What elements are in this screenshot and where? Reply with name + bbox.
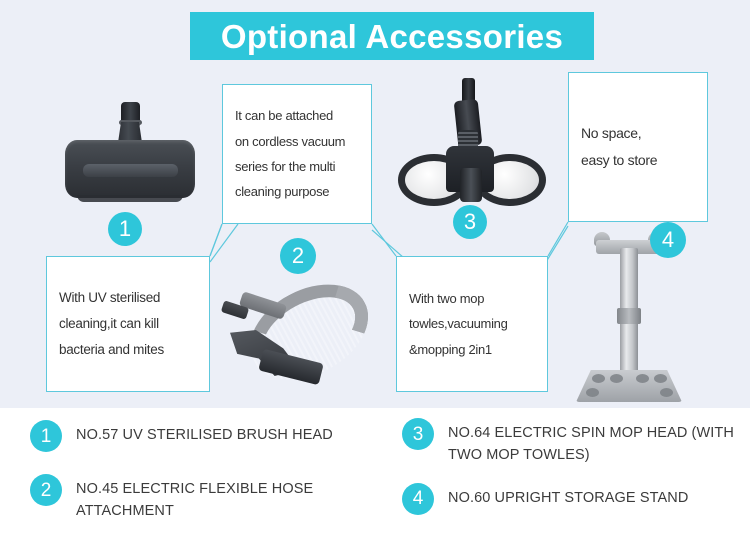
brush-base-strip xyxy=(77,195,183,202)
legend-panel: 1 NO.57 UV STERILISED BRUSH HEAD 2 NO.45… xyxy=(0,408,750,542)
mop-center-housing xyxy=(460,168,482,202)
product-image-flexible-hose xyxy=(218,282,383,388)
product-image-uv-brush-head xyxy=(55,100,205,200)
legend-item-3: 3 NO.64 ELECTRIC SPIN MOP HEAD (WITH TWO… xyxy=(402,418,750,467)
legend-label-3: NO.64 ELECTRIC SPIN MOP HEAD (WITH TWO M… xyxy=(448,418,750,467)
legend-badge-1: 1 xyxy=(30,420,62,452)
diagram-badge-3: 3 xyxy=(453,205,487,239)
diagram-badge-1: 1 xyxy=(108,212,142,246)
callout-line: on cordless vacuum xyxy=(235,129,359,154)
legend-item-1: 1 NO.57 UV STERILISED BRUSH HEAD xyxy=(30,420,400,452)
product-image-spin-mop-head xyxy=(404,78,540,196)
stand-base-slot xyxy=(654,374,667,383)
callout-hose: It can be attached on cordless vacuum se… xyxy=(222,84,372,224)
legend-label-4: NO.60 UPRIGHT STORAGE STAND xyxy=(448,483,688,509)
callout-line: &mopping 2in1 xyxy=(409,337,535,362)
legend-badge-4: 4 xyxy=(402,483,434,515)
callout-line: cleaning,it can kill xyxy=(59,311,197,337)
callout-line: It can be attached xyxy=(235,103,359,128)
diagram-badge-4: 4 xyxy=(650,222,686,258)
legend-column-right: 3 NO.64 ELECTRIC SPIN MOP HEAD (WITH TWO… xyxy=(402,408,750,515)
legend-badge-2: 2 xyxy=(30,474,62,506)
legend-label-1: NO.57 UV STERILISED BRUSH HEAD xyxy=(76,420,333,446)
callout-line: bacteria and mites xyxy=(59,337,197,363)
diagram-badge-2: 2 xyxy=(280,238,316,274)
legend-item-4: 4 NO.60 UPRIGHT STORAGE STAND xyxy=(402,483,750,515)
callout-line: easy to store xyxy=(581,147,695,174)
legend-item-2: 2 NO.45 ELECTRIC FLEXIBLE HOSE ATTACHMEN… xyxy=(30,474,400,523)
page-title-banner: Optional Accessories xyxy=(190,12,594,60)
callout-line: No space, xyxy=(581,120,695,147)
callout-line: towles,vacuuming xyxy=(409,311,535,336)
legend-column-left: 1 NO.57 UV STERILISED BRUSH HEAD 2 NO.45… xyxy=(30,408,400,523)
stand-base-slot xyxy=(660,388,673,397)
page-title: Optional Accessories xyxy=(221,20,563,53)
stand-base-plate xyxy=(576,370,682,402)
callout-mop: With two mop towles,vacuuming &mopping 2… xyxy=(396,256,548,392)
legend-label-2: NO.45 ELECTRIC FLEXIBLE HOSE ATTACHMENT xyxy=(76,474,400,523)
stand-base-slot xyxy=(592,374,605,383)
callout-line: With two mop xyxy=(409,286,535,311)
brush-suction-slot xyxy=(83,164,178,177)
callout-line: With UV sterilised xyxy=(59,285,197,311)
stand-base-slot xyxy=(636,374,649,383)
callout-stand: No space, easy to store xyxy=(568,72,708,222)
stand-base-slot xyxy=(610,374,623,383)
callout-uv-brush: With UV sterilised cleaning,it can kill … xyxy=(46,256,210,392)
stand-base-slot xyxy=(586,388,599,397)
stand-collar xyxy=(617,308,641,324)
accessories-infographic: Optional Accessories xyxy=(0,0,750,542)
callout-line: cleaning purpose xyxy=(235,179,359,204)
legend-badge-3: 3 xyxy=(402,418,434,450)
callout-line: series for the multi xyxy=(235,154,359,179)
